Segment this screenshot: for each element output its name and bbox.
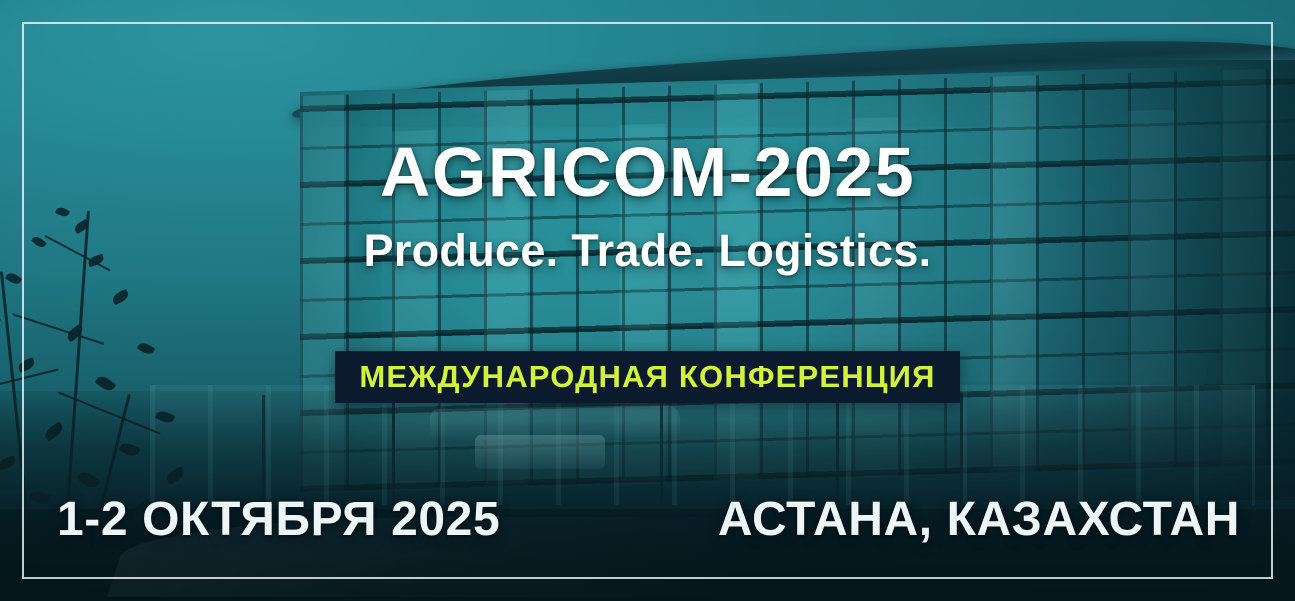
event-type-badge-wrapper: МЕЖДУНАРОДНАЯ КОНФЕРЕНЦИЯ	[0, 351, 1295, 403]
event-title: AGRICOM-2025	[0, 137, 1295, 207]
event-date: 1-2 ОКТЯБРЯ 2025	[57, 496, 500, 544]
poster-footer: 1-2 ОКТЯБРЯ 2025 АСТАНА, КАЗАХСТАН	[57, 496, 1240, 544]
poster-content: AGRICOM-2025 Produce. Trade. Logistics. …	[0, 0, 1295, 601]
event-location: АСТАНА, КАЗАХСТАН	[718, 496, 1240, 544]
event-type-badge: МЕЖДУНАРОДНАЯ КОНФЕРЕНЦИЯ	[335, 351, 959, 403]
event-tagline: Produce. Trade. Logistics.	[0, 228, 1295, 273]
conference-poster: AGRICOM-2025 Produce. Trade. Logistics. …	[0, 0, 1295, 601]
